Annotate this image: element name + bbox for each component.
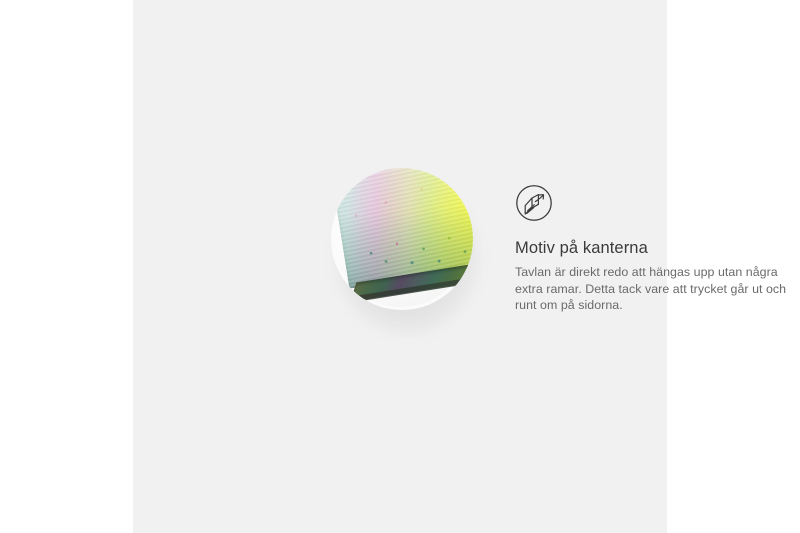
canvas-wrapped-edge-icon <box>515 184 787 227</box>
feature-title: Motiv på kanterna <box>515 238 787 259</box>
product-feature-banner: Motiv på kanterna Tavlan är direkt redo … <box>0 0 800 533</box>
feature-block-printed-edges: Motiv på kanterna Tavlan är direkt redo … <box>133 80 667 260</box>
canvas-print-slab <box>331 168 473 289</box>
feature-block-eco-product: Ekologisk produkt Vi använder endast mat… <box>133 275 667 435</box>
